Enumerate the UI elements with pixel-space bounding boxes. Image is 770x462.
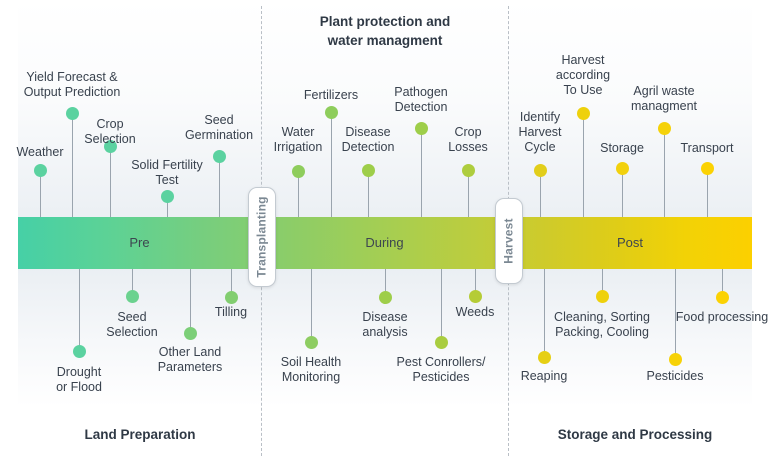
node-stem: [583, 116, 584, 217]
node-dot[interactable]: [469, 290, 482, 303]
node-label: Transport: [632, 141, 770, 156]
node-dot[interactable]: [34, 164, 47, 177]
node-label: Soil Health Monitoring: [236, 355, 386, 385]
timeline-diagram: Plant protection and water managment Pre…: [0, 0, 770, 462]
node-label: Yield Forecast & Output Prediction: [0, 70, 147, 100]
node-stem: [622, 171, 623, 217]
node-dot[interactable]: [379, 291, 392, 304]
node-stem: [368, 173, 369, 217]
node-label: Agril waste managment: [589, 84, 739, 114]
caption-storage-processing: Storage and Processing: [505, 427, 765, 442]
node-dot[interactable]: [126, 290, 139, 303]
milestone-transplanting-label: Transplanting: [255, 196, 269, 277]
node-dot[interactable]: [73, 345, 86, 358]
node-dot[interactable]: [161, 190, 174, 203]
node-dot[interactable]: [669, 353, 682, 366]
node-dot[interactable]: [325, 106, 338, 119]
node-dot[interactable]: [362, 164, 375, 177]
node-dot[interactable]: [534, 164, 547, 177]
segment-label-during: During: [261, 217, 508, 269]
node-dot[interactable]: [716, 291, 729, 304]
node-stem: [40, 173, 41, 217]
milestone-transplanting[interactable]: Transplanting: [248, 187, 276, 287]
node-dot[interactable]: [596, 290, 609, 303]
node-dot[interactable]: [292, 165, 305, 178]
node-stem: [219, 159, 220, 217]
node-dot[interactable]: [538, 351, 551, 364]
node-label: Pesticides: [600, 369, 750, 384]
node-dot[interactable]: [616, 162, 629, 175]
node-label: Tilling: [156, 305, 306, 320]
milestone-harvest[interactable]: Harvest: [495, 198, 523, 284]
node-dot[interactable]: [225, 291, 238, 304]
section-title-plant-protection: Plant protection and water managment: [235, 12, 535, 50]
node-dot[interactable]: [658, 122, 671, 135]
node-label: Reaping: [469, 369, 619, 384]
node-stem: [707, 171, 708, 217]
node-dot[interactable]: [701, 162, 714, 175]
node-stem: [298, 174, 299, 217]
milestone-harvest-label: Harvest: [502, 218, 516, 263]
node-stem: [190, 269, 191, 336]
node-label: Food processing: [647, 310, 770, 325]
node-dot[interactable]: [462, 164, 475, 177]
node-stem: [468, 173, 469, 217]
segment-label-post: Post: [508, 217, 752, 269]
node-dot[interactable]: [435, 336, 448, 349]
node-dot[interactable]: [184, 327, 197, 340]
segment-label-pre: Pre: [18, 217, 261, 269]
node-stem: [540, 173, 541, 217]
caption-land-preparation: Land Preparation: [10, 427, 270, 442]
